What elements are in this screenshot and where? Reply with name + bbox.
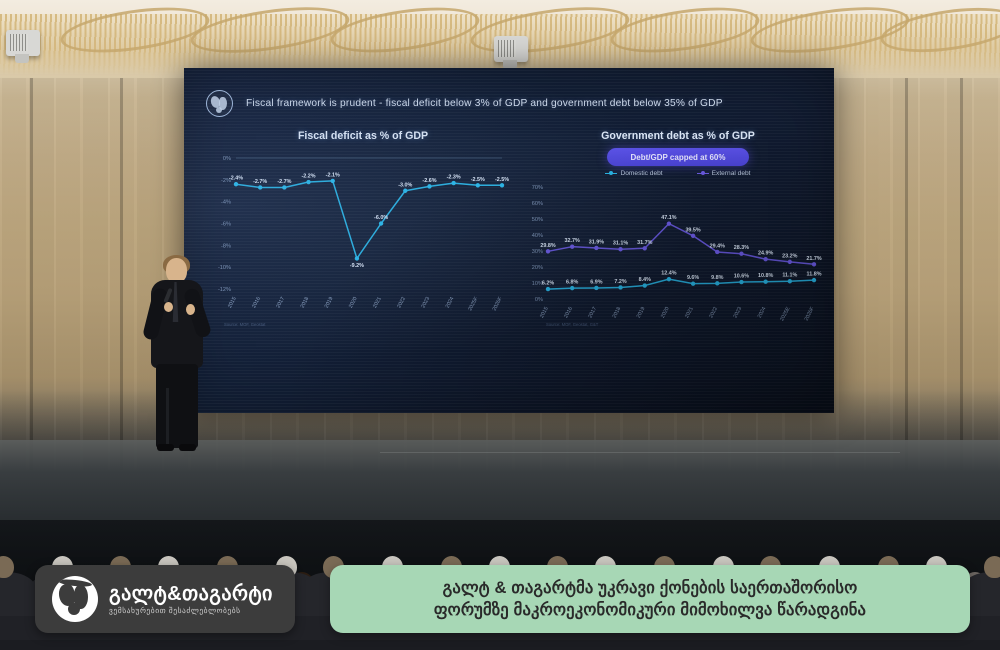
svg-text:2016: 2016: [251, 296, 262, 309]
right-source-note: Source: MOF, Geostat, G&T: [546, 322, 598, 327]
svg-text:-4%: -4%: [221, 200, 231, 206]
svg-text:31.9%: 31.9%: [589, 239, 604, 245]
galt-taggart-logo-icon: [52, 576, 98, 622]
svg-text:50%: 50%: [532, 217, 543, 223]
svg-text:-2.5%: -2.5%: [495, 177, 509, 183]
svg-text:2021: 2021: [684, 306, 695, 319]
svg-text:2016: 2016: [563, 306, 574, 319]
government-debt-plot: 0%10%20%30%40%50%60%70%20152016201720182…: [522, 179, 834, 329]
brand-name: გალტ&თაგარტი: [109, 584, 273, 604]
wall-seam: [30, 40, 33, 470]
government-debt-svg: 0%10%20%30%40%50%60%70%20152016201720182…: [522, 179, 822, 329]
galt-taggart-emblem-icon: [206, 90, 233, 117]
svg-text:8.4%: 8.4%: [639, 277, 651, 283]
svg-text:2019: 2019: [324, 296, 335, 309]
svg-text:9.8%: 9.8%: [711, 275, 723, 281]
svg-text:20%: 20%: [532, 265, 543, 271]
svg-text:29.8%: 29.8%: [540, 243, 555, 249]
svg-text:31.1%: 31.1%: [613, 241, 628, 247]
svg-text:2023: 2023: [421, 296, 432, 309]
legend-item-external-debt: External debt: [697, 170, 751, 177]
svg-text:-12%: -12%: [218, 287, 231, 293]
slide-charts: Fiscal deficit as % of GDP 0%-2%-4%-6%-8…: [184, 130, 834, 329]
svg-text:2021: 2021: [372, 296, 383, 309]
slide-header: Fiscal framework is prudent - fiscal def…: [206, 90, 818, 117]
svg-text:2025F: 2025F: [467, 296, 479, 312]
fiscal-deficit-chart: Fiscal deficit as % of GDP 0%-2%-4%-6%-8…: [184, 130, 516, 329]
legend-swatch-external: [697, 173, 709, 175]
svg-text:47.1%: 47.1%: [661, 215, 676, 221]
svg-text:-2.7%: -2.7%: [277, 179, 291, 185]
svg-text:60%: 60%: [532, 201, 543, 207]
svg-text:40%: 40%: [532, 233, 543, 239]
svg-text:10.8%: 10.8%: [758, 273, 773, 279]
legend-swatch-domestic: [605, 173, 617, 175]
legend-label-domestic: Domestic debt: [620, 170, 662, 177]
svg-text:6.2%: 6.2%: [542, 281, 554, 287]
brand-tagline: ვემსახურებით შესაძლებლობებს: [109, 606, 273, 615]
svg-text:-2.3%: -2.3%: [447, 175, 461, 181]
wall-seam: [960, 40, 963, 470]
svg-text:2024: 2024: [445, 296, 456, 309]
svg-text:2018: 2018: [612, 306, 623, 319]
svg-text:70%: 70%: [532, 185, 543, 191]
svg-text:2026F: 2026F: [492, 296, 504, 312]
svg-text:2019: 2019: [636, 306, 647, 319]
svg-text:2015: 2015: [539, 306, 550, 319]
government-debt-legend: Domestic debt External debt: [522, 170, 834, 177]
svg-text:24.9%: 24.9%: [758, 251, 773, 257]
brand-logo-panel: გალტ&თაგარტი ვემსახურებით შესაძლებლობებს: [35, 565, 295, 633]
svg-text:-2.4%: -2.4%: [229, 176, 243, 182]
svg-text:12.4%: 12.4%: [661, 271, 676, 277]
svg-text:-8%: -8%: [221, 243, 231, 249]
svg-text:6.9%: 6.9%: [590, 279, 602, 285]
svg-text:2024: 2024: [757, 306, 768, 319]
debt-cap-badge: Debt/GDP capped at 60%: [607, 148, 749, 166]
svg-text:7.2%: 7.2%: [614, 279, 626, 285]
svg-text:-6%: -6%: [221, 222, 231, 228]
svg-text:-2.6%: -2.6%: [422, 178, 436, 184]
svg-text:2025E: 2025E: [779, 306, 792, 323]
wall-seam: [905, 40, 908, 470]
fiscal-deficit-chart-title: Fiscal deficit as % of GDP: [210, 130, 516, 142]
svg-text:-3.0%: -3.0%: [398, 182, 412, 188]
svg-text:2017: 2017: [587, 306, 598, 319]
svg-text:-2.7%: -2.7%: [253, 179, 267, 185]
svg-text:32.7%: 32.7%: [565, 238, 580, 244]
svg-text:2022: 2022: [708, 306, 719, 319]
svg-text:2015: 2015: [227, 296, 238, 309]
svg-text:21.7%: 21.7%: [806, 256, 821, 262]
svg-text:29.4%: 29.4%: [710, 243, 725, 249]
svg-text:6.8%: 6.8%: [566, 280, 578, 286]
svg-text:2017: 2017: [275, 296, 286, 309]
caption-banner: გალტ & თაგარტმა უკრავი ქონების საერთაშორ…: [330, 565, 970, 633]
svg-text:-10%: -10%: [218, 265, 231, 271]
ceiling-projector: [494, 36, 528, 62]
fiscal-deficit-plot: 0%-2%-4%-6%-8%-10%-12%201520162017201820…: [210, 148, 516, 323]
wall-seam: [120, 40, 123, 470]
slide-headline: Fiscal framework is prudent - fiscal def…: [246, 98, 723, 109]
svg-text:2020: 2020: [660, 306, 671, 319]
svg-text:11.8%: 11.8%: [807, 272, 822, 278]
svg-text:11.1%: 11.1%: [782, 273, 797, 279]
ceiling-projector: [6, 30, 40, 56]
audience-member-head: [984, 556, 1000, 578]
svg-text:2023: 2023: [733, 306, 744, 319]
left-source-note: Source: MOF, Geostat: [224, 322, 265, 327]
svg-text:39.5%: 39.5%: [685, 227, 700, 233]
svg-text:-2.2%: -2.2%: [301, 174, 315, 180]
svg-text:10.6%: 10.6%: [734, 274, 749, 280]
svg-text:9.6%: 9.6%: [687, 275, 699, 281]
fiscal-deficit-svg: 0%-2%-4%-6%-8%-10%-12%201520162017201820…: [210, 148, 510, 323]
svg-text:31.7%: 31.7%: [637, 240, 652, 246]
presentation-photo: Fiscal framework is prudent - fiscal def…: [0, 0, 1000, 650]
svg-text:28.3%: 28.3%: [734, 245, 749, 251]
svg-text:2022: 2022: [396, 296, 407, 309]
led-presentation-screen: Fiscal framework is prudent - fiscal def…: [184, 68, 834, 413]
svg-text:2026F: 2026F: [804, 306, 816, 322]
government-debt-chart: Government debt as % of GDP Debt/GDP cap…: [516, 130, 834, 329]
svg-text:2018: 2018: [300, 296, 311, 309]
svg-text:-9.2%: -9.2%: [350, 263, 364, 269]
presenter-left-hand: [164, 302, 173, 312]
svg-text:23.2%: 23.2%: [782, 253, 797, 259]
svg-text:30%: 30%: [532, 249, 543, 255]
svg-text:2020: 2020: [348, 296, 359, 309]
svg-text:-2.1%: -2.1%: [326, 172, 340, 178]
government-debt-chart-title: Government debt as % of GDP: [522, 130, 834, 142]
svg-text:-6.0%: -6.0%: [374, 215, 388, 221]
legend-item-domestic-debt: Domestic debt: [605, 170, 662, 177]
svg-text:0%: 0%: [223, 156, 231, 162]
svg-text:0%: 0%: [535, 297, 543, 303]
svg-text:-2.5%: -2.5%: [471, 177, 485, 183]
caption-line-2: ფორუმზე მაკროეკონომიკური მიმოხილვა წარად…: [434, 601, 866, 619]
caption-line-1: გალტ & თაგარტმა უკრავი ქონების საერთაშორ…: [443, 579, 858, 597]
presenter-right-hand: [186, 304, 195, 315]
legend-label-external: External debt: [712, 170, 751, 177]
